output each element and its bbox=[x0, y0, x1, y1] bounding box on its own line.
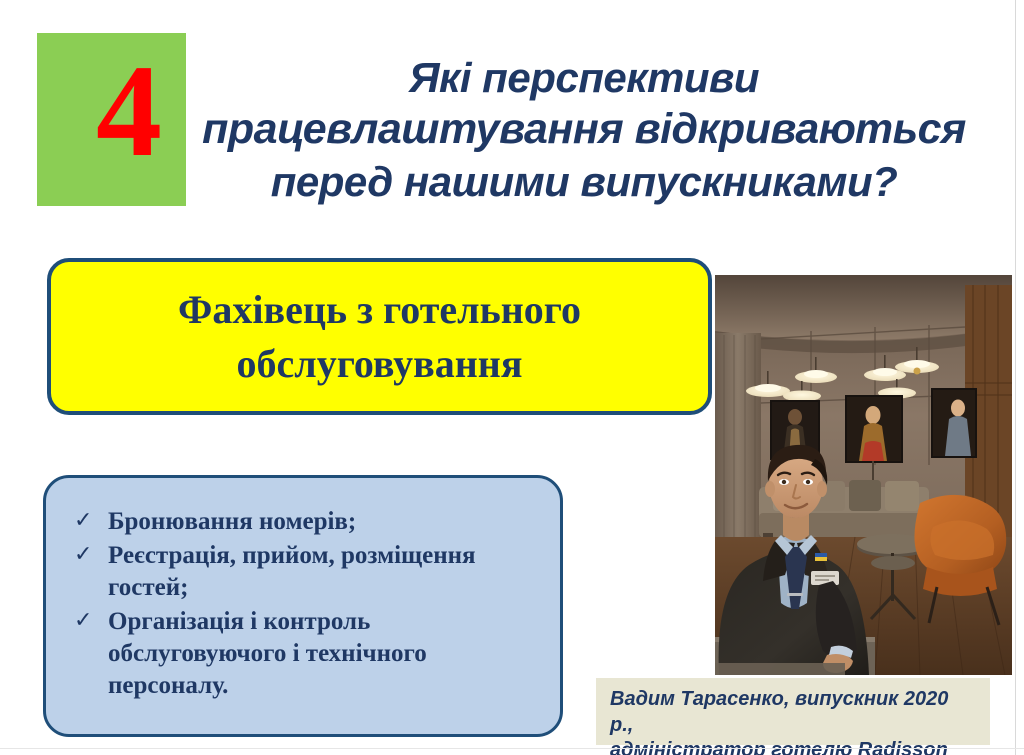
check-icon: ✓ bbox=[74, 507, 92, 535]
hotel-lobby-photo bbox=[715, 275, 1012, 675]
duties-list: ✓ Бронювання номерів; ✓ Реєстрація, прий… bbox=[64, 506, 536, 702]
list-item-label: Реєстрація, прийом, розміщення гостей; bbox=[108, 542, 476, 601]
photo-caption-line-1: Вадим Тарасенко, випускник 2020 р., bbox=[610, 687, 976, 738]
page-title-line-3: перед нашими випускниками? bbox=[150, 156, 1018, 207]
list-item: ✓ Організація і контроль обслуговуючого … bbox=[64, 606, 536, 702]
page-title-line-2: працевлаштування відкриваються bbox=[150, 103, 1018, 155]
duties-card: ✓ Бронювання номерів; ✓ Реєстрація, прий… bbox=[43, 475, 563, 737]
slide-frame-bottom bbox=[0, 748, 1024, 749]
check-icon: ✓ bbox=[74, 541, 92, 569]
list-item-label: Організація і контроль обслуговуючого і … bbox=[108, 608, 427, 699]
list-item: ✓ Бронювання номерів; bbox=[64, 506, 536, 538]
photo-caption-line-2: адміністратор готелю Radisson Blu bbox=[610, 738, 976, 755]
photo-caption: Вадим Тарасенко, випускник 2020 р., адмі… bbox=[596, 678, 990, 745]
slide-frame-right bbox=[1015, 0, 1016, 755]
page-title: Які перспективи працевлаштування відкрив… bbox=[150, 52, 1018, 207]
slide-canvas: 4 Які перспективи працевлаштування відкр… bbox=[0, 0, 1024, 755]
profession-banner-label: Фахівець з готельного обслуговування bbox=[51, 283, 708, 391]
list-item-label: Бронювання номерів; bbox=[108, 508, 356, 535]
list-item: ✓ Реєстрація, прийом, розміщення гостей; bbox=[64, 540, 536, 604]
check-icon: ✓ bbox=[74, 607, 92, 635]
page-title-line-1: Які перспективи bbox=[150, 52, 1018, 103]
profession-banner: Фахівець з готельного обслуговування bbox=[47, 258, 712, 415]
